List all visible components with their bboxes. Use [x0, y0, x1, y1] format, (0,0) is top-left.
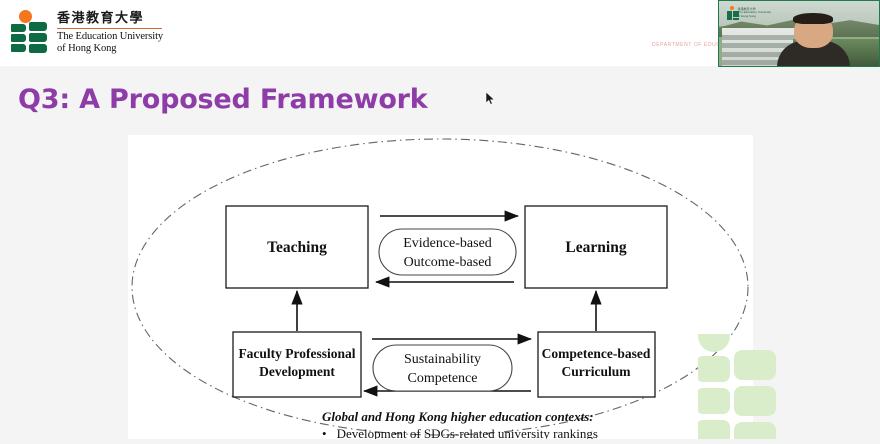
capsule-evidence-outcome-line2: Outcome-based	[404, 255, 492, 270]
presenter-video-overlay[interactable]: 香港教育大學 The Education University of Hong …	[718, 0, 880, 67]
video-logo-en: The Education University of Hong Kong	[738, 11, 771, 18]
bullet-glyph-icon: •	[322, 425, 327, 439]
capsule-sustainability-competence-line1: Sustainability	[404, 352, 481, 367]
institution-branding: 香港教育大學 The Education University of Hong …	[10, 10, 163, 54]
context-bullet-1-label: Development of SDGs-related university r…	[337, 425, 598, 439]
box-fpd-label-line1: Faculty Professional	[238, 346, 355, 361]
mouse-pointer-icon	[486, 92, 496, 106]
context-heading-label: Global and Hong Kong higher education co…	[322, 408, 742, 425]
page-title: Q3: A Proposed Framework	[18, 84, 428, 115]
eduhk-logo-icon	[10, 10, 50, 52]
box-cbc-label-line2: Curriculum	[562, 364, 632, 379]
capsule-evidence-outcome-line1: Evidence-based	[403, 236, 492, 251]
box-teaching-label: Teaching	[267, 239, 327, 256]
box-cbc-label-line1: Competence-based	[542, 346, 651, 361]
capsule-sustainability-competence-line2: Competence	[408, 371, 478, 386]
brand-wordmark: 香港教育大學 The Education University of Hong …	[57, 10, 163, 54]
brand-divider	[57, 28, 162, 29]
framework-diagram: Teaching Learning Faculty Professional D…	[128, 135, 753, 439]
brand-name-chinese: 香港教育大學	[57, 11, 163, 26]
context-text-block: Global and Hong Kong higher education co…	[322, 408, 742, 439]
box-fpd-label-line2: Development	[259, 364, 335, 379]
presentation-slide: 香港教育大學 The Education University of Hong …	[0, 0, 880, 439]
box-learning-label: Learning	[565, 239, 626, 256]
brand-name-english-line1: The Education University	[57, 31, 163, 43]
context-bullet-item: • Development of SDGs-related university…	[322, 425, 742, 439]
video-overlay-logo-icon: 香港教育大學 The Education University of Hong …	[727, 5, 771, 21]
presenter-hair	[793, 13, 833, 24]
brand-name-english-line2: of Hong Kong	[57, 43, 163, 55]
